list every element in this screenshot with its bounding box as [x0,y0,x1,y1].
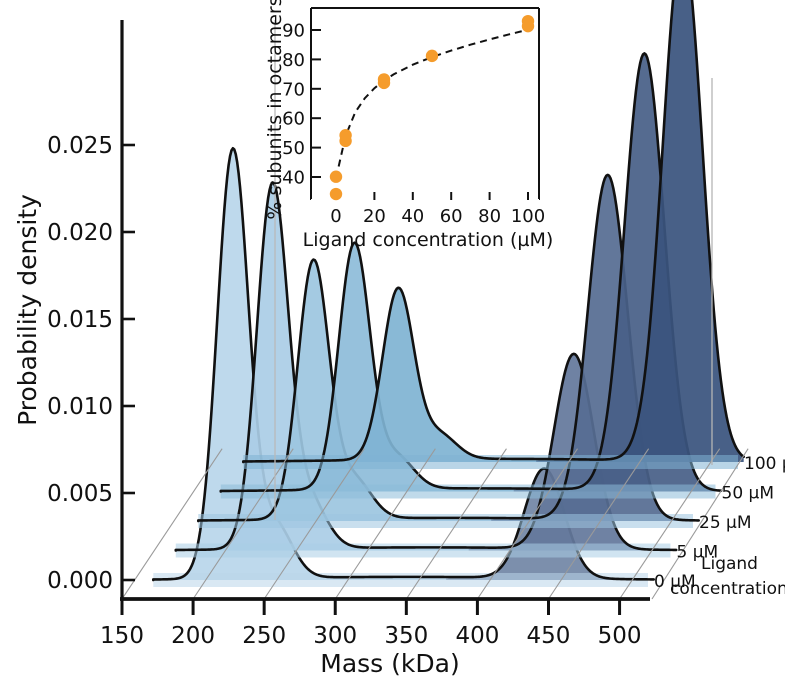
y-tick-label: 0.020 [47,220,113,246]
figure-canvas: 0.0000.0050.0100.0150.0200.025 150200250… [0,0,785,690]
inset-data-point [339,135,351,147]
y-axis-title: Probability density [13,194,42,426]
inset-data-point [330,188,342,200]
series-depth-label: 100 µM [744,454,785,474]
series-axis-title-line1: Ligand [701,554,758,574]
inset-x-tick-label: 20 [363,206,386,227]
x-tick-label: 400 [455,623,499,649]
inset-x-tick-label: 100 [511,206,545,227]
x-axis-title: Mass (kDa) [320,649,459,678]
x-tick-label: 450 [527,623,571,649]
series-depth-label: 25 µM [699,513,752,533]
inset-data-point [522,20,534,32]
series-axis-title-line2: concentration [670,579,785,599]
inset-x-tick-label: 40 [401,206,424,227]
inset-data-point [426,50,438,62]
y-tick-label: 0.010 [47,394,113,420]
ridgeline-figure: 0.0000.0050.0100.0150.0200.025 150200250… [0,0,785,690]
inset-x-axis-title: Ligand concentration (µM) [303,229,554,251]
inset-x-tick-label: 80 [478,206,501,227]
inset-panel: 405060708090 020406080100 % subunits in … [264,0,553,251]
x-tick-label: 200 [171,623,215,649]
main-x-ticks: 150200250300350400450500 [100,599,641,649]
x-tick-label: 250 [242,623,286,649]
x-tick-label: 500 [598,623,642,649]
x-tick-label: 300 [313,623,357,649]
inset-data-point [378,77,390,89]
x-tick-label: 150 [100,623,144,649]
y-tick-label: 0.000 [47,568,113,594]
inset-y-axis-title: % subunits in octamers [264,0,286,220]
y-tick-label: 0.015 [47,307,113,333]
inset-data-point [330,171,342,183]
x-tick-label: 350 [384,623,428,649]
series-depth-label: 50 µM [722,484,775,504]
y-tick-label: 0.025 [47,133,113,159]
y-tick-label: 0.005 [47,481,113,507]
inset-x-tick-label: 0 [330,206,341,227]
inset-x-tick-label: 60 [440,206,463,227]
